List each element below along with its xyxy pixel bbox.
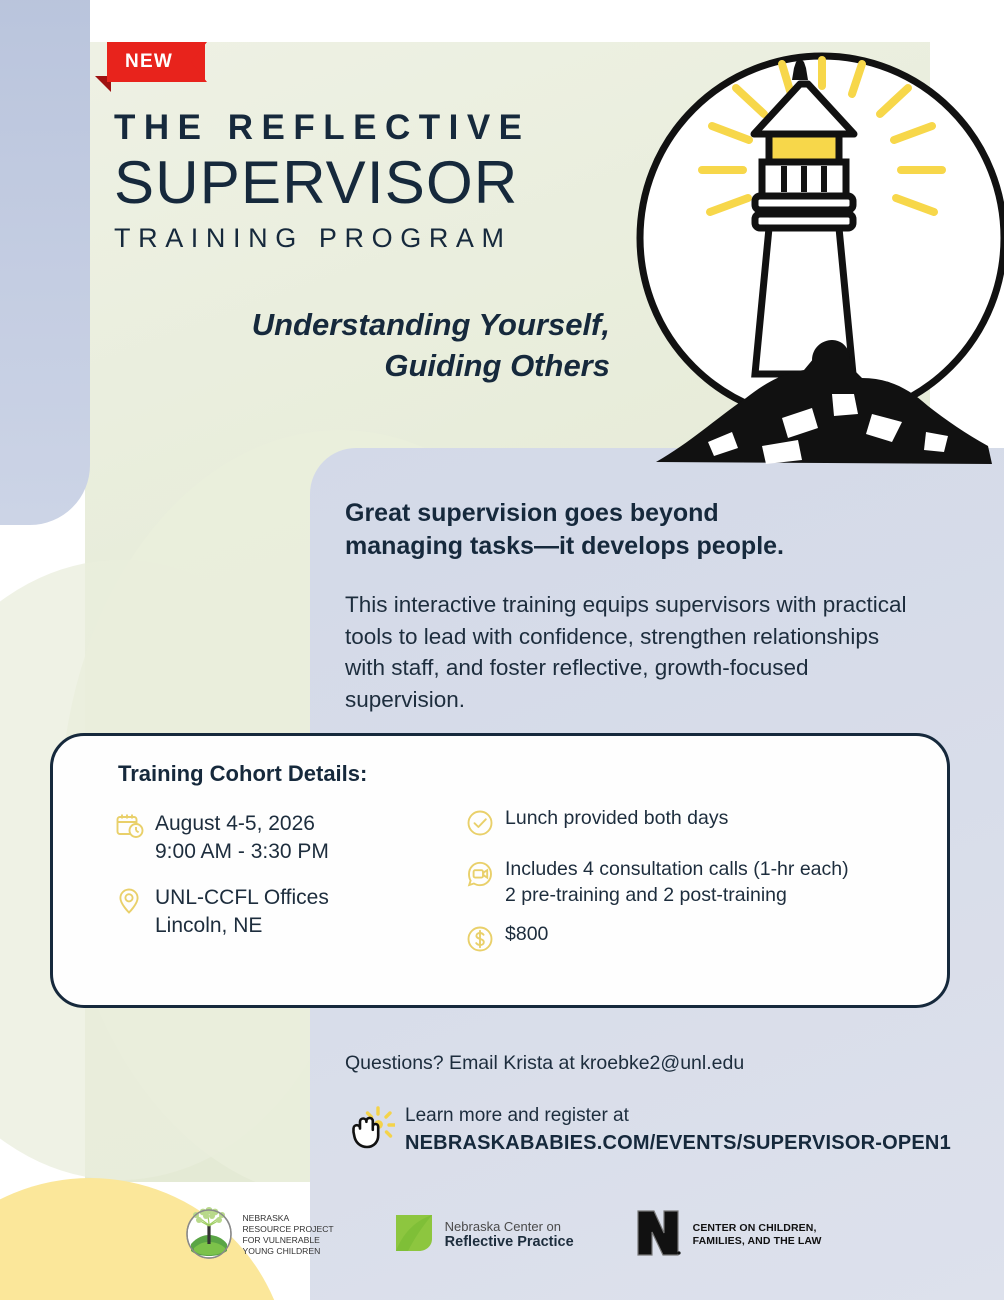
detail-text-price: $800 (505, 922, 548, 948)
register-intro: Learn more and register at (405, 1105, 951, 1128)
detail-row-dates: August 4-5, 2026 9:00 AM - 3:30 PM (115, 810, 495, 866)
calls-line-1: Includes 4 consultation calls (1-hr each… (505, 857, 849, 883)
green-leaf-logo (392, 1211, 436, 1260)
calls-line-2: 2 pre-training and 2 post-training (505, 883, 849, 909)
nrp-line-2: RESOURCE PROJECT (242, 1224, 333, 1235)
nrp-line-1: NEBRASKA (242, 1213, 333, 1224)
lead-line-2: managing tasks—it develops people. (345, 530, 905, 563)
training-details-card: Training Cohort Details: (50, 733, 950, 1008)
background-blue-left-band (0, 0, 90, 525)
subtitle: Understanding Yourself, Guiding Others (150, 305, 610, 387)
lead-line-1: Great supervision goes beyond (345, 497, 905, 530)
ccfl-line-1: CENTER ON CHILDREN, (693, 1222, 822, 1235)
card-heading: Training Cohort Details: (118, 761, 367, 787)
dates-line-2: 9:00 AM - 3:30 PM (155, 838, 329, 866)
title-line-1: THE REFLECTIVE (114, 110, 634, 145)
card-column-left: August 4-5, 2026 9:00 AM - 3:30 PM UNL-C… (115, 810, 495, 958)
dollar-circle-icon (465, 922, 505, 959)
register-block[interactable]: Learn more and register at NEBRASKABABIE… (345, 1105, 951, 1156)
new-badge-label: NEW (107, 42, 191, 82)
ncrp-line-1: Nebraska Center on (445, 1220, 574, 1234)
detail-text-calls: Includes 4 consultation calls (1-hr each… (505, 857, 849, 908)
title-line-3: TRAINING PROGRAM (114, 225, 634, 252)
tree-circle-logo (182, 1206, 236, 1265)
register-text: Learn more and register at NEBRASKABABIE… (405, 1105, 951, 1156)
nrp-line-4: YOUNG CHILDREN (242, 1246, 333, 1257)
calendar-clock-icon (115, 810, 155, 847)
detail-text-lunch: Lunch provided both days (505, 806, 728, 832)
check-circle-icon (465, 806, 505, 843)
logo-nebraska-center-reflective-practice: Nebraska Center on Reflective Practice (392, 1211, 574, 1260)
detail-row-location: UNL-CCFL Offices Lincoln, NE (115, 884, 495, 940)
detail-row-calls: Includes 4 consultation calls (1-hr each… (465, 857, 935, 908)
location-line-2: Lincoln, NE (155, 912, 329, 940)
ccfl-line-2: FAMILIES, AND THE LAW (693, 1235, 822, 1248)
lead-statement: Great supervision goes beyond managing t… (345, 497, 905, 563)
description-paragraph: This interactive training equips supervi… (345, 589, 925, 716)
lighthouse-illustration (636, 22, 1004, 482)
questions-line: Questions? Email Krista at kroebke2@unl.… (345, 1052, 744, 1075)
hand-tap-icon (345, 1105, 399, 1156)
video-camera-icon (465, 857, 505, 894)
title-line-2: SUPERVISOR (114, 151, 634, 215)
location-line-1: UNL-CCFL Offices (155, 884, 329, 912)
detail-text-dates: August 4-5, 2026 9:00 AM - 3:30 PM (155, 810, 329, 866)
logo-ncrp-text: Nebraska Center on Reflective Practice (445, 1220, 574, 1251)
card-column-right: Lunch provided both days Includes 4 cons… (465, 806, 935, 973)
price-value: $800 (505, 922, 548, 948)
detail-row-lunch: Lunch provided both days (465, 806, 935, 843)
dates-line-1: August 4-5, 2026 (155, 810, 329, 838)
logo-nrp-text: NEBRASKA RESOURCE PROJECT FOR VULNERABLE… (242, 1213, 333, 1258)
detail-row-price: $800 (465, 922, 935, 959)
logo-ccfl-text: CENTER ON CHILDREN, FAMILIES, AND THE LA… (693, 1222, 822, 1248)
register-url[interactable]: NEBRASKABABIES.COM/EVENTS/SUPERVISOR-OPE… (405, 1130, 951, 1156)
subtitle-line-2: Guiding Others (150, 346, 610, 387)
page-title: THE REFLECTIVE SUPERVISOR TRAINING PROGR… (114, 110, 634, 252)
logo-nebraska-resource-project: NEBRASKA RESOURCE PROJECT FOR VULNERABLE… (182, 1206, 333, 1265)
nrp-line-3: FOR VULNERABLE (242, 1235, 333, 1246)
location-pin-icon (115, 884, 155, 921)
subtitle-line-1: Understanding Yourself, (150, 305, 610, 346)
detail-text-location: UNL-CCFL Offices Lincoln, NE (155, 884, 329, 940)
footer-logo-row: NEBRASKA RESOURCE PROJECT FOR VULNERABLE… (0, 1200, 1004, 1270)
lunch-line-1: Lunch provided both days (505, 806, 728, 832)
poster-canvas: NEW (0, 0, 1004, 1300)
ncrp-line-2: Reflective Practice (445, 1234, 574, 1251)
nebraska-n-logo (632, 1207, 684, 1264)
logo-ccfl: CENTER ON CHILDREN, FAMILIES, AND THE LA… (632, 1207, 822, 1264)
